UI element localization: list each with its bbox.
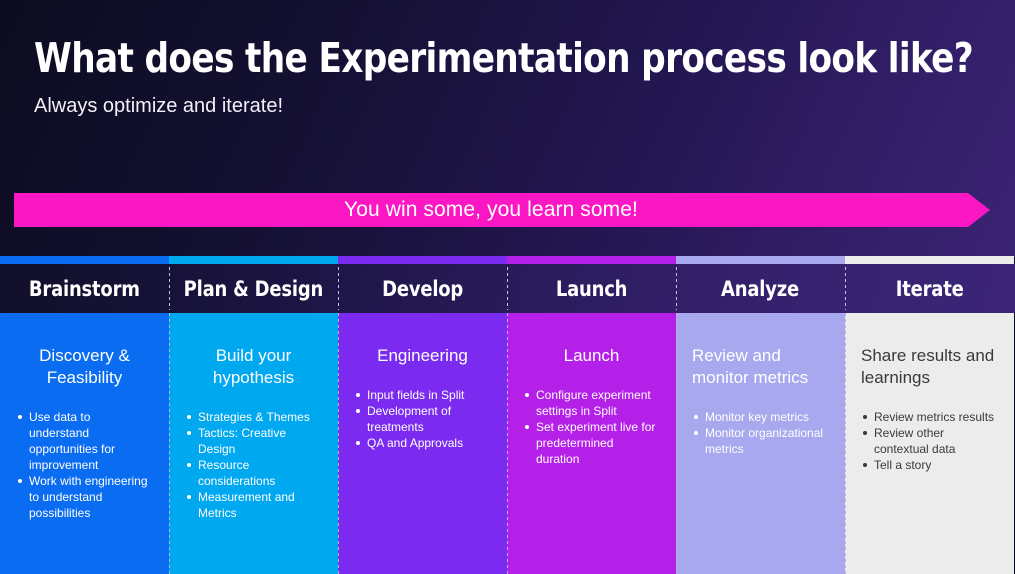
stage-header-label: Plan & Design [184, 277, 323, 301]
stage-header-label: Launch [556, 277, 627, 301]
tagline-banner: You win some, you learn some! [14, 193, 990, 227]
stage-header-develop[interactable]: Develop [338, 264, 507, 313]
page-title: What does the Experimentation process lo… [34, 33, 973, 83]
stage-header-plan-design[interactable]: Plan & Design [169, 264, 338, 313]
stage-bullet-list: Input fields in SplitDevelopment of trea… [354, 387, 491, 451]
stage-heading: Launch [523, 345, 660, 367]
stage-heading: Build your hypothesis [185, 345, 322, 389]
column-divider [845, 313, 846, 574]
list-item: Tactics: Creative Design [185, 425, 322, 457]
accent-segment-iterate [845, 256, 1014, 264]
accent-segment-plan-design [169, 256, 338, 264]
stage-column-brainstorm[interactable]: Discovery & FeasibilityUse data to under… [0, 313, 169, 574]
accent-segment-brainstorm [0, 256, 169, 264]
stage-column-analyze[interactable]: Review and monitor metricsMonitor key me… [676, 313, 845, 574]
list-item: Review metrics results [861, 409, 998, 425]
stage-header-analyze[interactable]: Analyze [676, 264, 845, 313]
stage-heading: Engineering [354, 345, 491, 367]
stage-column-develop[interactable]: EngineeringInput fields in SplitDevelopm… [338, 313, 507, 574]
column-divider [338, 313, 339, 574]
accent-segment-launch [507, 256, 676, 264]
list-item: Resource considerations [185, 457, 322, 489]
stage-bullet-list: Review metrics resultsReview other conte… [861, 409, 998, 473]
list-item: Monitor key metrics [692, 409, 829, 425]
stage-column-iterate[interactable]: Share results and learningsReview metric… [845, 313, 1014, 574]
accent-segment-analyze [676, 256, 845, 264]
stage-heading: Review and monitor metrics [692, 345, 829, 389]
column-divider [507, 313, 508, 574]
list-item: Development of treatments [354, 403, 491, 435]
list-item: QA and Approvals [354, 435, 491, 451]
list-item: Configure experiment settings in Split [523, 387, 660, 419]
stage-header-launch[interactable]: Launch [507, 264, 676, 313]
stage-accent-strip [0, 256, 1015, 264]
list-item: Set experiment live for predetermined du… [523, 419, 660, 467]
stage-bullet-list: Configure experiment settings in SplitSe… [523, 387, 660, 467]
stage-bullet-list: Monitor key metricsMonitor organizationa… [692, 409, 829, 457]
header-divider [845, 267, 846, 310]
tagline-banner-text: You win some, you learn some! [344, 198, 638, 222]
stage-header-band: BrainstormPlan & DesignDevelopLaunchAnal… [0, 264, 1015, 313]
stage-header-brainstorm[interactable]: Brainstorm [0, 264, 169, 313]
column-divider [676, 313, 677, 574]
column-divider [169, 313, 170, 574]
stage-header-label: Analyze [722, 277, 800, 301]
header-divider [676, 267, 677, 310]
stage-column-launch[interactable]: LaunchConfigure experiment settings in S… [507, 313, 676, 574]
hero-section: What does the Experimentation process lo… [0, 0, 1015, 257]
list-item: Monitor organizational metrics [692, 425, 829, 457]
list-item: Work with engineering to understand poss… [16, 473, 153, 521]
accent-segment-develop [338, 256, 507, 264]
list-item: Measurement and Metrics [185, 489, 322, 521]
list-item: Strategies & Themes [185, 409, 322, 425]
list-item: Input fields in Split [354, 387, 491, 403]
header-divider [169, 267, 170, 310]
list-item: Tell a story [861, 457, 998, 473]
page-subtitle: Always optimize and iterate! [34, 93, 283, 119]
header-divider [507, 267, 508, 310]
stage-heading: Discovery & Feasibility [16, 345, 153, 389]
stage-header-iterate[interactable]: Iterate [845, 264, 1014, 313]
stage-bullet-list: Strategies & ThemesTactics: Creative Des… [185, 409, 322, 521]
stage-heading: Share results and learnings [861, 345, 998, 389]
list-item: Use data to understand opportunities for… [16, 409, 153, 473]
list-item: Review other contextual data [861, 425, 998, 457]
stage-bullet-list: Use data to understand opportunities for… [16, 409, 153, 521]
stage-header-label: Develop [382, 277, 463, 301]
stage-header-label: Brainstorm [29, 277, 140, 301]
stage-columns: Discovery & FeasibilityUse data to under… [0, 313, 1015, 574]
header-divider [338, 267, 339, 310]
stage-header-label: Iterate [896, 277, 964, 301]
stage-column-plan-design[interactable]: Build your hypothesisStrategies & Themes… [169, 313, 338, 574]
